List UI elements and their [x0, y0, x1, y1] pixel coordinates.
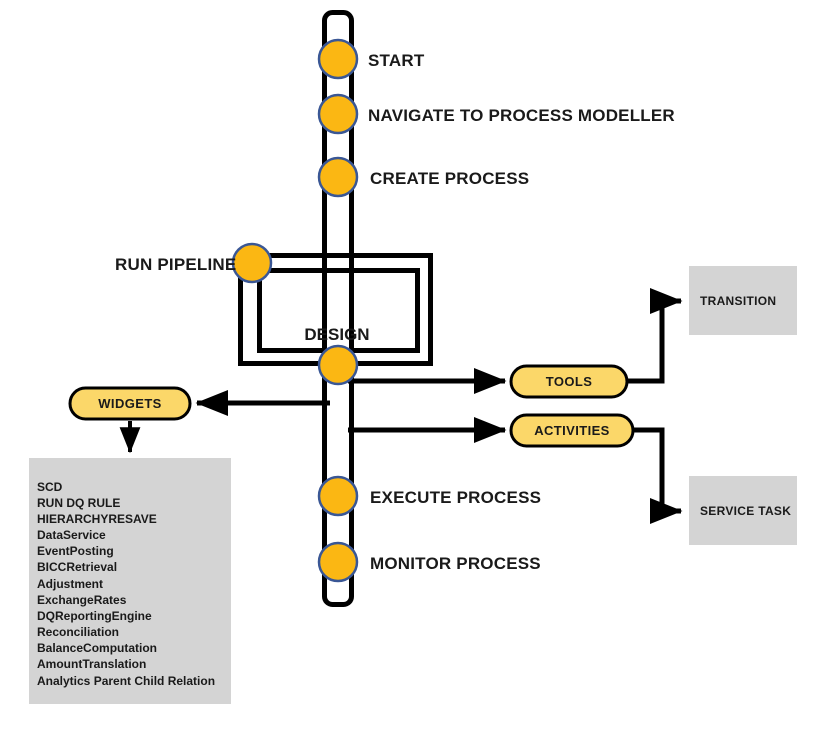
- connector-tools-to-transition: [626, 301, 681, 381]
- design-junction-node-circle[interactable]: [319, 346, 357, 384]
- start-node-circle[interactable]: [319, 40, 357, 78]
- run-pipeline-node-circle[interactable]: [233, 244, 271, 282]
- create-node-label: CREATE PROCESS: [370, 169, 529, 188]
- monitor-node-label: MONITOR PROCESS: [370, 554, 541, 573]
- navigate-node-circle[interactable]: [319, 95, 357, 133]
- execute-node-circle[interactable]: [319, 477, 357, 515]
- node-navigate-to-process-modeller[interactable]: NAVIGATE TO PROCESS MODELLER: [319, 95, 675, 133]
- node-start[interactable]: START: [319, 40, 425, 78]
- flow-diagram-canvas: TRANSITION SERVICE TASK SCD RUN DQ RULE …: [0, 0, 832, 731]
- gray-box-transition: TRANSITION: [689, 266, 797, 335]
- node-run-pipeline[interactable]: RUN PIPELINE: [115, 244, 271, 282]
- connector-activities-to-service-task: [633, 430, 681, 511]
- node-create-process[interactable]: CREATE PROCESS: [319, 158, 529, 196]
- navigate-node-label: NAVIGATE TO PROCESS MODELLER: [368, 106, 675, 125]
- pill-tools[interactable]: TOOLS: [511, 366, 627, 397]
- widget-list-item: DataService: [37, 528, 106, 542]
- run-pipeline-node-label: RUN PIPELINE: [115, 255, 236, 274]
- node-design-junction[interactable]: [319, 346, 357, 384]
- widgets-pill-label: WIDGETS: [98, 396, 161, 411]
- widget-list-item: BalanceComputation: [37, 641, 157, 655]
- widget-list-item: DQReportingEngine: [37, 609, 152, 623]
- node-execute-process[interactable]: EXECUTE PROCESS: [319, 477, 541, 515]
- transition-box-label: TRANSITION: [700, 294, 776, 308]
- widget-list-item: AmountTranslation: [37, 657, 146, 671]
- widget-list-item: Analytics Parent Child Relation: [37, 674, 215, 688]
- widget-list-item: EventPosting: [37, 544, 114, 558]
- service-task-box-label: SERVICE TASK: [700, 504, 791, 518]
- pill-activities[interactable]: ACTIVITIES: [511, 415, 633, 446]
- design-label: DESIGN: [304, 325, 369, 344]
- create-node-circle[interactable]: [319, 158, 357, 196]
- activities-pill-label: ACTIVITIES: [534, 423, 610, 438]
- widget-list-item: HIERARCHYRESAVE: [37, 512, 157, 526]
- widget-list-panel: SCD RUN DQ RULE HIERARCHYRESAVE DataServ…: [29, 458, 231, 704]
- widget-list-item: Reconciliation: [37, 625, 119, 639]
- node-monitor-process[interactable]: MONITOR PROCESS: [319, 543, 541, 581]
- widget-list-item: ExchangeRates: [37, 593, 127, 607]
- start-node-label: START: [368, 51, 425, 70]
- widget-list-item: Adjustment: [37, 577, 103, 591]
- gray-box-service-task: SERVICE TASK: [689, 476, 797, 545]
- execute-node-label: EXECUTE PROCESS: [370, 488, 541, 507]
- pill-widgets[interactable]: WIDGETS: [70, 388, 190, 419]
- widget-list-item: BICCRetrieval: [37, 560, 117, 574]
- process-flow-diagram: TRANSITION SERVICE TASK SCD RUN DQ RULE …: [0, 0, 832, 731]
- widget-list-item: SCD: [37, 480, 63, 494]
- tools-pill-label: TOOLS: [546, 374, 593, 389]
- widget-list-item: RUN DQ RULE: [37, 496, 120, 510]
- monitor-node-circle[interactable]: [319, 543, 357, 581]
